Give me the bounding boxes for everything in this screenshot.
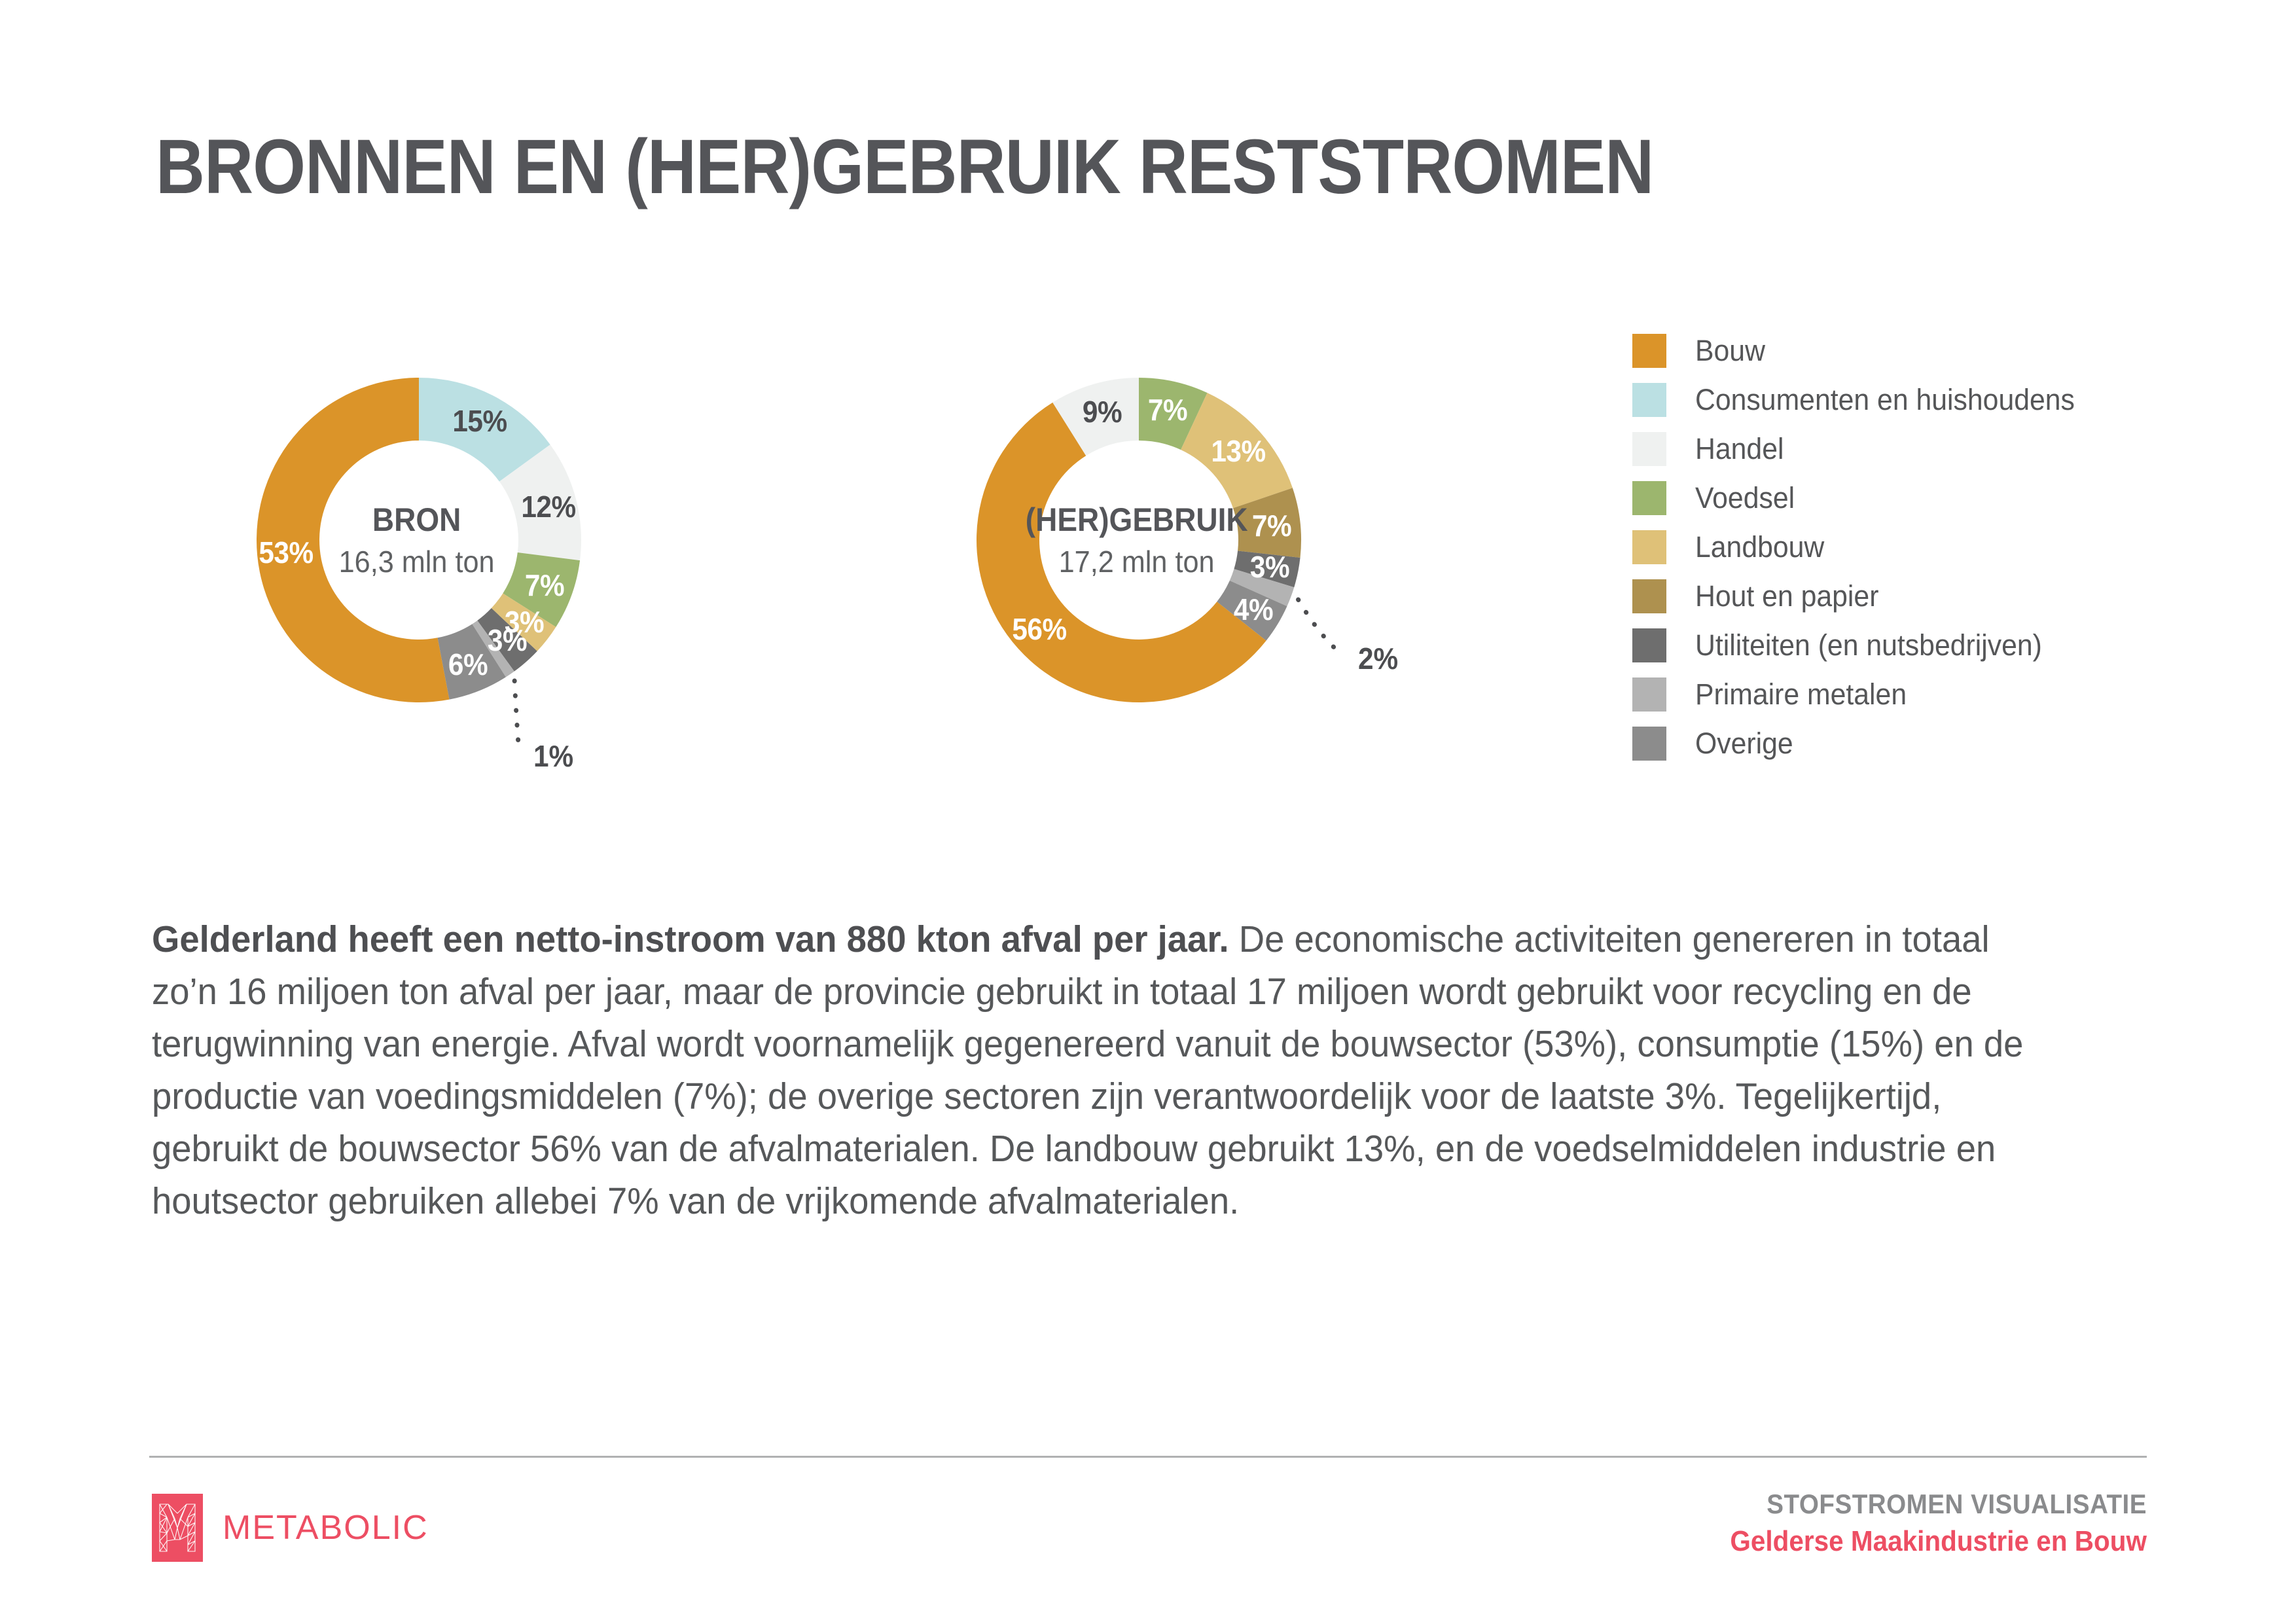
donut-slices-bron bbox=[257, 378, 581, 702]
legend-swatch-icon bbox=[1632, 727, 1666, 761]
legend-item[interactable]: Utiliteiten (en nutsbedrijven) bbox=[1632, 621, 2094, 670]
leader-line bbox=[514, 681, 519, 753]
legend-item-label: Consumenten en huishoudens bbox=[1695, 383, 2075, 417]
credit-subtitle: Gelderse Maakindustrie en Bouw bbox=[1730, 1525, 2147, 1558]
footer-divider bbox=[149, 1456, 2147, 1458]
legend-swatch-icon bbox=[1632, 530, 1666, 564]
legend-item-label: Bouw bbox=[1695, 334, 1765, 368]
donut-chart-bron: BRON 16,3 mln ton 15%12%7%3%3%1%6%53% bbox=[131, 281, 707, 799]
legend-item[interactable]: Voedsel bbox=[1632, 473, 2094, 522]
legend-item-label: Voedsel bbox=[1695, 481, 1795, 515]
legend-item[interactable]: Bouw bbox=[1632, 326, 2094, 375]
leader-line bbox=[1299, 600, 1344, 656]
legend-item-label: Landbouw bbox=[1695, 530, 1824, 564]
body-paragraph: Gelderland heeft een netto-instroom van … bbox=[152, 913, 2058, 1227]
legend-swatch-icon bbox=[1632, 383, 1666, 417]
donut-svg-hergebruik bbox=[851, 281, 1427, 799]
legend-item-label: Overige bbox=[1695, 727, 1793, 761]
legend-item[interactable]: Hout en papier bbox=[1632, 571, 2094, 621]
donut-svg-bron bbox=[131, 281, 707, 799]
legend-swatch-icon bbox=[1632, 481, 1666, 515]
body-rest-sentence: De economische activiteiten genereren in… bbox=[152, 918, 2023, 1222]
legend-swatch-icon bbox=[1632, 432, 1666, 466]
donut-leader-lines-hergebruik bbox=[1299, 600, 1344, 656]
donut-chart-hergebruik: (HER)GEBRUIK 17,2 mln ton 7%13%7%3%2%4%5… bbox=[851, 281, 1427, 799]
footer-credit: STOFSTROMEN VISUALISATIE Gelderse Maakin… bbox=[1694, 1489, 2147, 1558]
page-title: BRONNEN EN (HER)GEBRUIK RESTSTROMEN bbox=[156, 128, 1653, 206]
legend-item-label: Hout en papier bbox=[1695, 579, 1878, 613]
body-lead-sentence: Gelderland heeft een netto-instroom van … bbox=[152, 918, 1229, 960]
legend-item-label: Handel bbox=[1695, 432, 1784, 466]
donut-wrap-hergebruik: (HER)GEBRUIK 17,2 mln ton 7%13%7%3%2%4%5… bbox=[851, 281, 1427, 799]
legend-item[interactable]: Overige bbox=[1632, 719, 2094, 768]
metabolic-m-icon bbox=[152, 1494, 203, 1562]
donut-wrap-bron: BRON 16,3 mln ton 15%12%7%3%3%1%6%53% bbox=[131, 281, 707, 799]
legend-swatch-icon bbox=[1632, 579, 1666, 613]
metabolic-wordmark: METABOLIC bbox=[223, 1508, 429, 1547]
legend-swatch-icon bbox=[1632, 677, 1666, 712]
legend-item[interactable]: Landbouw bbox=[1632, 522, 2094, 571]
chart-legend: BouwConsumenten en huishoudensHandelVoed… bbox=[1632, 326, 2094, 768]
legend-swatch-icon bbox=[1632, 334, 1666, 368]
credit-title: STOFSTROMEN VISUALISATIE bbox=[1730, 1489, 2147, 1520]
donut-slices-hergebruik bbox=[977, 378, 1301, 702]
metabolic-logo: METABOLIC bbox=[152, 1494, 429, 1562]
legend-item-label: Primaire metalen bbox=[1695, 677, 1907, 712]
legend-item[interactable]: Consumenten en huishoudens bbox=[1632, 375, 2094, 424]
legend-item[interactable]: Handel bbox=[1632, 424, 2094, 473]
legend-item[interactable]: Primaire metalen bbox=[1632, 670, 2094, 719]
legend-item-label: Utiliteiten (en nutsbedrijven) bbox=[1695, 628, 2042, 662]
legend-swatch-icon bbox=[1632, 628, 1666, 662]
donut-leader-lines-bron bbox=[514, 681, 519, 753]
